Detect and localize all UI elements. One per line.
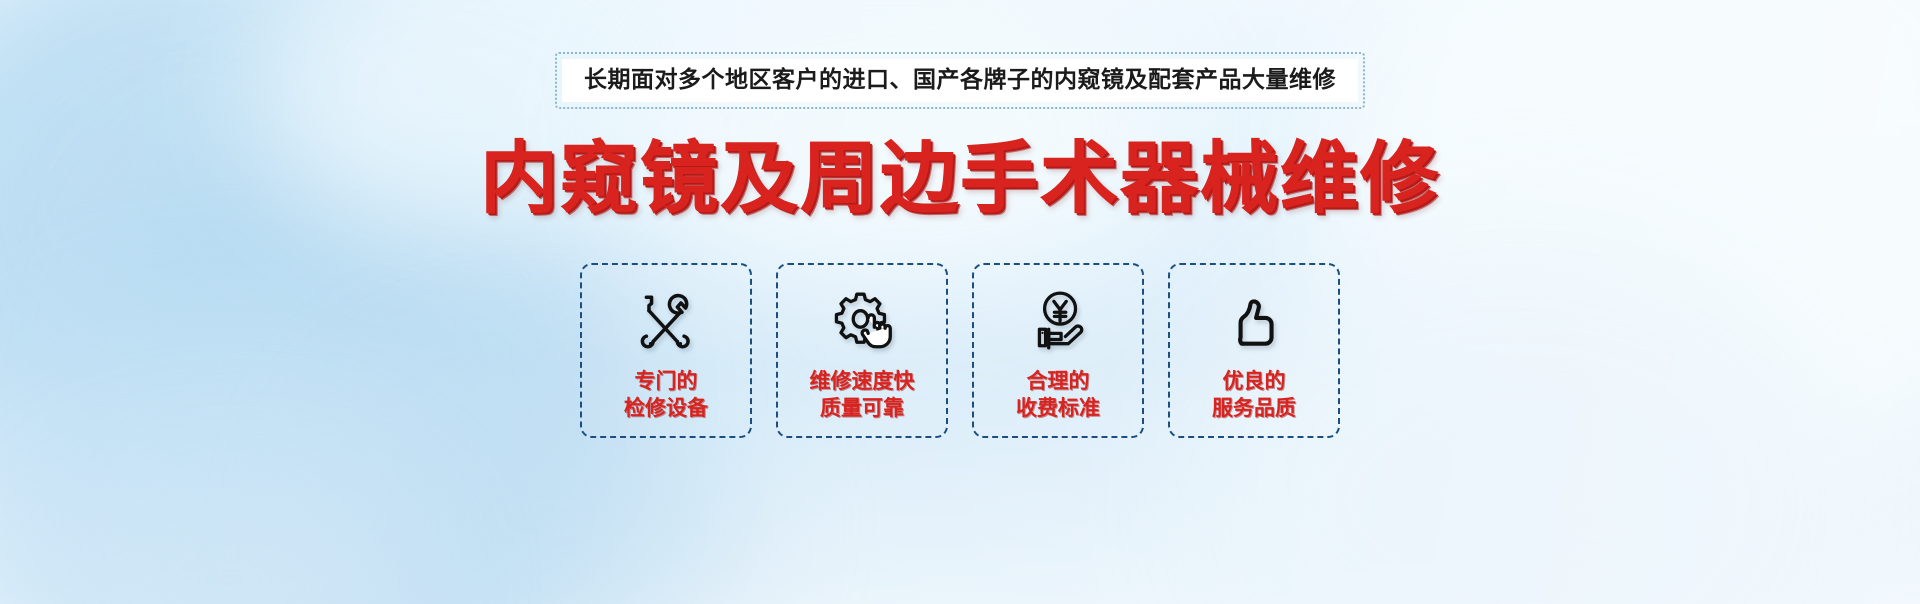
promo-banner: 长期面对多个地区客户的进口、国产各牌子的内窥镜及配套产品大量维修 内窥镜及周边手… — [0, 0, 1920, 604]
banner-headline: 内窥镜及周边手术器械维修 — [480, 139, 1440, 217]
yen-coin-in-hand-icon — [1025, 285, 1091, 357]
feature-card-list: 专门的 检修设备 维修速度快 质量可靠 — [580, 263, 1340, 438]
gear-hand-click-icon — [829, 285, 895, 357]
feature-card[interactable]: 维修速度快 质量可靠 — [776, 263, 948, 438]
feature-card-label: 维修速度快 质量可靠 — [810, 369, 915, 423]
subtitle-inner: 长期面对多个地区客户的进口、国产各牌子的内窥镜及配套产品大量维修 — [562, 59, 1358, 102]
subtitle-frame: 长期面对多个地区客户的进口、国产各牌子的内窥镜及配套产品大量维修 — [555, 52, 1365, 109]
banner-content: 长期面对多个地区客户的进口、国产各牌子的内窥镜及配套产品大量维修 内窥镜及周边手… — [0, 0, 1920, 604]
feature-card[interactable]: 专门的 检修设备 — [580, 263, 752, 438]
feature-card[interactable]: 优良的 服务品质 — [1168, 263, 1340, 438]
thumbs-up-icon — [1221, 285, 1287, 357]
feature-card-label: 优良的 服务品质 — [1212, 369, 1296, 423]
banner-subtitle: 长期面对多个地区客户的进口、国产各牌子的内窥镜及配套产品大量维修 — [584, 65, 1336, 94]
tools-screwdriver-wrench-icon — [633, 285, 699, 357]
feature-card-label: 合理的 收费标准 — [1016, 369, 1100, 423]
feature-card[interactable]: 合理的 收费标准 — [972, 263, 1144, 438]
feature-card-label: 专门的 检修设备 — [624, 369, 708, 423]
